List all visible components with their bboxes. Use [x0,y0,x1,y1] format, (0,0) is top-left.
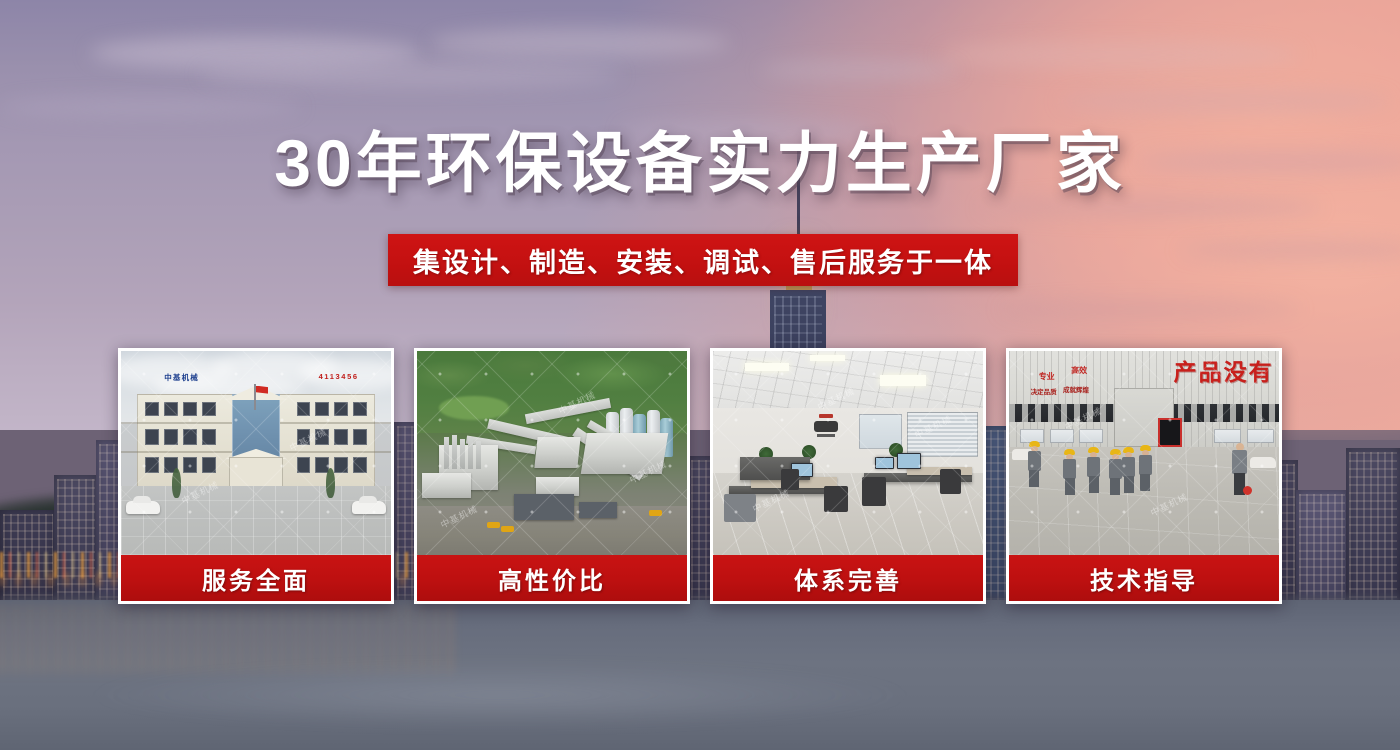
subtitle-text: 集设计、制造、安装、调试、售后服务于一体 [413,241,993,280]
card-photo-workshop-training: 产品没有 专业 高效 成就辉煌 决定品质 [1009,351,1279,555]
factory-slogan: 产品没有 [1174,353,1274,387]
card-photo-office-building: 中基机械 4113456 [121,351,391,555]
feature-card-row: 中基机械 4113456 [118,348,1282,604]
card-caption: 高性价比 [417,555,687,601]
water-sheen [60,660,1160,730]
feature-card-value[interactable]: 中基机械 中基机械 中基机械 高性价比 [414,348,690,604]
wall-decal-icon [808,414,844,440]
wall-word: 高效 [1071,365,1087,376]
building-signage: 中基机械 [164,372,199,383]
worker [1063,449,1076,495]
card-caption-text: 技术指导 [1090,561,1198,596]
wall-word: 决定品质 [1031,386,1057,396]
card-photo-aerial-plant: 中基机械 中基机械 中基机械 [417,351,687,555]
worker [1109,449,1122,495]
feature-card-guidance[interactable]: 产品没有 专业 高效 成就辉煌 决定品质 [1006,348,1282,604]
red-helmet-icon [1243,486,1252,495]
card-caption-text: 服务全面 [202,561,310,596]
page-title: 30年环保设备实力生产厂家 [0,130,1400,196]
card-caption: 体系完善 [713,555,983,601]
worker [1087,447,1100,493]
card-photo-office-interior: 中基机械 中基机械 中基机械 [713,351,983,555]
building-phone-number: 4113456 [319,372,359,381]
card-caption-text: 体系完善 [794,561,902,596]
card-caption: 技术指导 [1009,555,1279,601]
worker [1028,441,1041,487]
worker [1139,445,1152,491]
feature-card-system[interactable]: 中基机械 中基机械 中基机械 体系完善 [710,348,986,604]
subtitle-banner: 集设计、制造、安装、调试、售后服务于一体 [388,234,1018,286]
banner-stage: 30年环保设备实力生产厂家 集设计、制造、安装、调试、售后服务于一体 [0,0,1400,750]
wall-word: 成就辉煌 [1063,384,1089,394]
card-caption-text: 高性价比 [498,561,606,596]
worker [1122,447,1135,493]
feature-card-service[interactable]: 中基机械 4113456 [118,348,394,604]
wall-word: 专业 [1039,371,1055,382]
card-caption: 服务全面 [121,555,391,601]
